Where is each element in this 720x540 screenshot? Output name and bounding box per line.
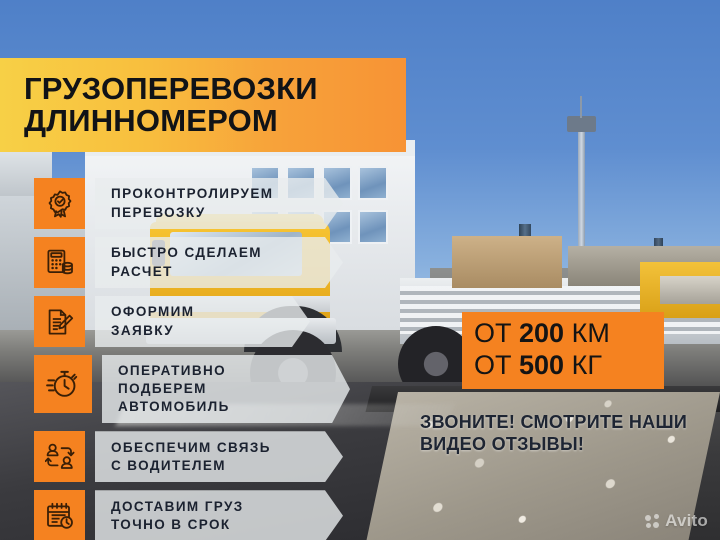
call-to-action: ЗВОНИТЕ! СМОТРИТЕ НАШИ ВИДЕО ОТЗЫВЫ! <box>420 412 710 456</box>
cargo-crate <box>452 236 562 288</box>
document-pen-icon <box>34 296 85 347</box>
avito-watermark-text: Avito <box>665 511 708 531</box>
feature-label-banner: ДОСТАВИМ ГРУЗ ТОЧНО В СРОК <box>95 490 343 540</box>
feature-item-fast-quote: БЫСТРО СДЕЛАЕМ РАСЧЕТ <box>34 237 364 288</box>
feature-label-banner: ПРОКОНТРОЛИРУЕМ ПЕРЕВОЗКУ <box>95 178 343 229</box>
award-badge-icon <box>34 178 85 229</box>
stopwatch-icon <box>34 355 92 413</box>
feature-line-1: ОБЕСПЕЧИМ СВЯЗЬ <box>111 439 271 457</box>
feature-label-banner: ОПЕРАТИВНО ПОДБЕРЕМ АВТОМОБИЛЬ <box>102 355 350 423</box>
min-distance-prefix: ОТ <box>474 318 512 348</box>
cta-line-2: ВИДЕО ОТЗЫВЫ! <box>420 434 710 456</box>
second-truck-bed <box>660 276 720 304</box>
min-weight-line: ОТ 500 КГ <box>474 350 652 382</box>
feature-line-1: БЫСТРО СДЕЛАЕМ <box>111 244 262 262</box>
feature-line-1: ДОСТАВИМ ГРУЗ <box>111 498 244 516</box>
feature-label-banner: ОФОРМИМ ЗАЯВКУ <box>95 296 310 347</box>
cta-line-1: ЗВОНИТЕ! СМОТРИТЕ НАШИ <box>420 412 710 434</box>
feature-label-banner: ОБЕСПЕЧИМ СВЯЗЬ С ВОДИТЕЛЕМ <box>95 431 343 482</box>
min-weight-value: 500 <box>519 350 564 380</box>
feature-list: ПРОКОНТРОЛИРУЕМ ПЕРЕВОЗКУ <box>34 178 364 540</box>
min-weight-unit: КГ <box>572 350 602 380</box>
feature-item-control-shipment: ПРОКОНТРОЛИРУЕМ ПЕРЕВОЗКУ <box>34 178 364 229</box>
feature-line-2: С ВОДИТЕЛЕМ <box>111 457 271 475</box>
min-distance-line: ОТ 200 КМ <box>474 318 652 350</box>
min-distance-value: 200 <box>519 318 564 348</box>
title-line-2: ДЛИННОМЕРОМ <box>24 105 406 137</box>
advertisement-creative: ГРУЗОПЕРЕВОЗКИ ДЛИННОМЕРОМ ПРОКОНТРОЛИРУ… <box>0 0 720 540</box>
avito-dots-icon <box>645 514 660 529</box>
feature-item-quick-vehicle: ОПЕРАТИВНО ПОДБЕРЕМ АВТОМОБИЛЬ <box>34 355 364 423</box>
calendar-clock-icon <box>34 490 85 540</box>
avito-watermark: Avito <box>645 511 708 531</box>
title-line-1: ГРУЗОПЕРЕВОЗКИ <box>24 73 406 105</box>
feature-item-driver-contact: ОБЕСПЕЧИМ СВЯЗЬ С ВОДИТЕЛЕМ <box>34 431 364 482</box>
min-weight-prefix: ОТ <box>474 350 512 380</box>
feature-item-paperwork: ОФОРМИМ ЗАЯВКУ <box>34 296 364 347</box>
feature-line-2: ПЕРЕВОЗКУ <box>111 204 273 222</box>
feature-line-1: ОПЕРАТИВНО <box>118 362 230 380</box>
feature-line-1: ОФОРМИМ <box>111 303 194 321</box>
feature-line-2: ЗАЯВКУ <box>111 322 194 340</box>
calculator-coins-icon <box>34 237 85 288</box>
feature-line-2: РАСЧЕТ <box>111 263 262 281</box>
feature-line-2: ТОЧНО В СРОК <box>111 516 244 534</box>
contacts-link-icon <box>34 431 85 482</box>
feature-line-2: ПОДБЕРЕМ <box>118 380 230 398</box>
title-banner: ГРУЗОПЕРЕВОЗКИ ДЛИННОМЕРОМ <box>0 58 406 152</box>
min-distance-unit: КМ <box>572 318 610 348</box>
price-conditions-badge: ОТ 200 КМ ОТ 500 КГ <box>462 312 664 389</box>
feature-label-banner: БЫСТРО СДЕЛАЕМ РАСЧЕТ <box>95 237 343 288</box>
feature-item-on-time-delivery: ДОСТАВИМ ГРУЗ ТОЧНО В СРОК <box>34 490 364 540</box>
feature-line-1: ПРОКОНТРОЛИРУЕМ <box>111 185 273 203</box>
feature-line-3: АВТОМОБИЛЬ <box>118 398 230 416</box>
